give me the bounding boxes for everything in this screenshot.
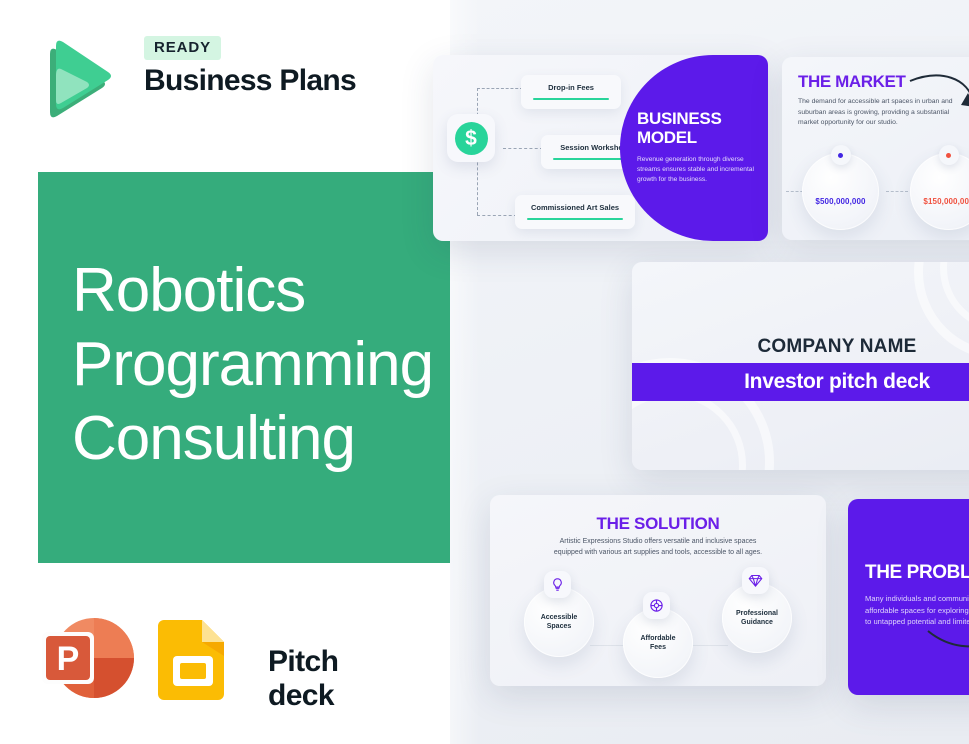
label-line-2: Spaces <box>547 623 572 630</box>
revenue-stream-label: Commissioned Art Sales <box>527 203 623 212</box>
ready-badge: READY <box>144 36 221 60</box>
caption-line-1: Serviceable Addressable <box>899 239 969 240</box>
svg-text:P: P <box>57 640 80 678</box>
label-line-1: Accessible <box>541 614 578 621</box>
play-triangle-logo-icon <box>40 36 112 120</box>
pitch-deck-band: Investor pitch deck <box>632 363 969 401</box>
slide-company-title[interactable]: COMPANY NAME Investor pitch deck <box>632 262 969 470</box>
diamond-icon <box>742 567 769 594</box>
label-line-1: Affordable <box>641 635 676 642</box>
lightbulb-icon <box>544 571 571 598</box>
revenue-stream-item[interactable]: Drop-in Fees <box>521 75 621 109</box>
solution-node-label: Accessible Spaces <box>541 613 578 631</box>
dollar-sign-badge: $ <box>447 114 495 162</box>
format-label: Pitch deck <box>268 645 338 713</box>
revenue-stream-label: Drop-in Fees <box>533 83 609 92</box>
solution-body: Artistic Expressions Studio offers versa… <box>545 537 771 558</box>
market-title: THE MARKET <box>798 72 905 92</box>
connector-middle <box>503 148 543 149</box>
hero-title: Robotics Programming Consulting <box>72 254 472 476</box>
metric-dot-holder <box>831 145 851 165</box>
revenue-stream-item[interactable]: Commissioned Art Sales <box>515 195 635 229</box>
title-line-1: BUSINESS <box>637 109 722 128</box>
title-line-2: MODEL <box>637 128 722 147</box>
metric-connector <box>886 191 908 192</box>
curved-underline-icon <box>926 627 969 661</box>
underline-bar <box>533 98 609 100</box>
metric-dot-icon <box>946 153 951 158</box>
metric-caption: Total Addressable Market (TAM) <box>791 239 891 240</box>
hero-title-line-3: Consulting <box>72 402 472 476</box>
underline-bar <box>527 218 623 220</box>
solution-node-label: Professional Guidance <box>736 609 778 627</box>
connector-top <box>477 88 523 89</box>
solution-node-label: Affordable Fees <box>641 634 676 652</box>
label-line-2: Fees <box>650 644 666 651</box>
google-slides-icon <box>158 620 230 700</box>
label-line-1: Professional <box>736 610 778 617</box>
label-line-2: Guidance <box>741 619 773 626</box>
connector-bottom <box>477 215 517 216</box>
dollar-sign-icon: $ <box>455 122 488 155</box>
metric-sam[interactable]: $150,000,000 Serviceable Addressable Mar… <box>910 153 969 230</box>
pitch-deck-subtitle: Investor pitch deck <box>632 363 969 401</box>
hero-title-line-2: Programming <box>72 328 472 402</box>
business-model-panel: BUSINESS MODEL Revenue generation throug… <box>620 55 768 241</box>
market-body: The demand for accessible art spaces in … <box>798 97 969 129</box>
problem-body: Many individuals and communities lack ac… <box>865 593 969 628</box>
metric-dot-icon <box>838 153 843 158</box>
hero-panel: Robotics Programming Consulting <box>38 172 450 563</box>
business-model-title: BUSINESS MODEL <box>637 109 722 147</box>
slide-problem[interactable]: THE PROBLEM Many individuals and communi… <box>848 499 969 695</box>
slide-solution[interactable]: THE SOLUTION Artistic Expressions Studio… <box>490 495 826 686</box>
powerpoint-icon: P <box>40 616 136 700</box>
metric-caption: Serviceable Addressable Market (SAM) <box>899 239 969 240</box>
brand-name: Business Plans <box>144 64 356 98</box>
problem-title: THE PROBLEM <box>865 562 969 584</box>
slide-market[interactable]: THE MARKET The demand for accessible art… <box>782 57 969 240</box>
brand-logo-text: READY Business Plans <box>144 36 356 98</box>
metric-tam[interactable]: $500,000,000 Total Addressable Market (T… <box>802 153 879 230</box>
solution-title: THE SOLUTION <box>490 514 826 534</box>
metric-dot-holder <box>939 145 959 165</box>
caption-line-1: Total Addressable <box>791 239 891 240</box>
metric-value: $500,000,000 <box>802 197 879 206</box>
target-icon <box>643 592 670 619</box>
brand-logo: READY Business Plans <box>40 34 370 126</box>
node-link <box>688 645 728 646</box>
metric-value: $150,000,000 <box>910 197 969 206</box>
hero-title-line-1: Robotics <box>72 254 472 328</box>
slide-business-model[interactable]: $ Drop-in Fees Session Workshops Commiss… <box>433 55 768 241</box>
business-model-body: Revenue generation through diverse strea… <box>637 155 757 185</box>
company-name: COMPANY NAME <box>632 336 969 358</box>
